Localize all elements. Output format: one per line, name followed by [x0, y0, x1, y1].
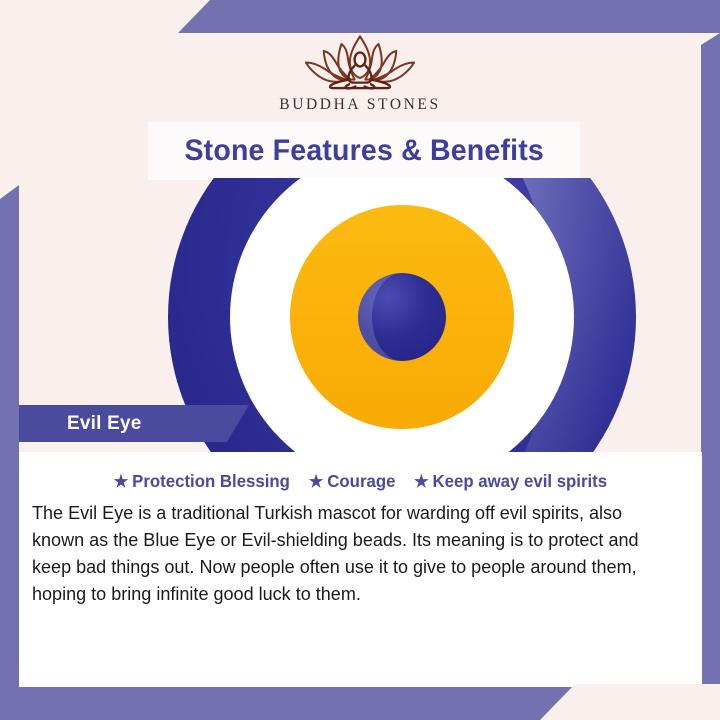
decor-band-left — [0, 185, 19, 705]
feature-label: Keep away evil spirits — [432, 471, 607, 492]
brand-name: BUDDHA STONES — [279, 96, 440, 114]
feature-label: Courage — [327, 471, 395, 492]
description-text: The Evil Eye is a traditional Turkish ma… — [32, 499, 672, 607]
feature-item-2: ★ Courage — [308, 471, 395, 492]
page-title: Stone Features & Benefits — [184, 134, 544, 168]
star-icon: ★ — [308, 473, 323, 490]
promo-card: BUDDHA STONES Stone Features & Benefits — [0, 0, 720, 720]
title-bar: Stone Features & Benefits — [148, 122, 580, 180]
decor-band-right — [701, 33, 720, 685]
feature-item-3: ★ Keep away evil spirits — [414, 471, 607, 492]
decor-band-top — [0, 0, 720, 33]
product-label-banner: Evil Eye — [19, 405, 249, 442]
feature-item-1: ★ Protection Blessing — [114, 471, 290, 492]
star-icon: ★ — [414, 473, 429, 490]
brand-logo: BUDDHA STONES — [0, 30, 720, 125]
feature-label: Protection Blessing — [132, 471, 290, 492]
features-row: ★ Protection Blessing ★ Courage ★ Keep a… — [19, 468, 702, 494]
star-icon: ★ — [114, 473, 129, 490]
product-label: Evil Eye — [67, 413, 141, 435]
lotus-meditation-icon — [275, 30, 445, 92]
